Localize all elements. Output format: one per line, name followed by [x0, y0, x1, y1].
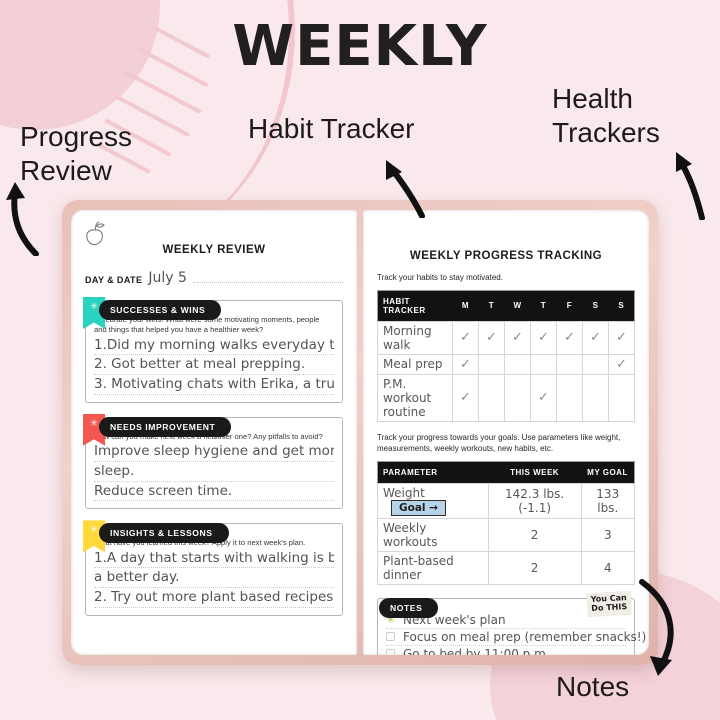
habit-day-header: T: [531, 290, 557, 321]
habit-day-header: M: [453, 290, 479, 321]
check-icon: ✓: [512, 330, 523, 345]
habit-day-header: F: [557, 290, 583, 321]
habit-row[interactable]: Morning walk✓✓✓✓✓✓✓: [378, 321, 635, 354]
habit-row[interactable]: P.M. workout routine✓✓: [378, 374, 635, 421]
habit-check-cell[interactable]: ✓: [453, 374, 479, 421]
habit-check-cell[interactable]: [479, 374, 505, 421]
apple-icon: [83, 220, 109, 248]
habit-day-header: W: [505, 290, 531, 321]
check-icon: ✓: [538, 330, 549, 345]
section-insights-lessons: ✳ INSIGHTS & LESSONS What have you learn…: [85, 523, 343, 616]
parameter-name: Weekly workouts: [378, 518, 489, 551]
habit-check-cell[interactable]: ✓: [453, 354, 479, 374]
handwritten-line[interactable]: 1.Did my morning walks everyday this wee…: [94, 336, 334, 356]
annotation-habit-tracker: Habit Tracker: [248, 112, 415, 146]
param-col-this-week: THIS WEEK: [488, 461, 581, 483]
habit-day-header: T: [479, 290, 505, 321]
handwritten-line[interactable]: Reduce screen time.: [94, 482, 334, 502]
checkbox-icon[interactable]: [386, 632, 395, 641]
habit-tracker-table[interactable]: HABIT TRACKER M T W T F S S Morning walk…: [377, 290, 635, 422]
goal-arrow-sticker: Goal →: [391, 500, 446, 516]
habit-check-cell[interactable]: [583, 374, 609, 421]
page-title: WEEKLY: [0, 14, 720, 79]
you-can-do-this-sticker: You Can Do THIS: [586, 591, 631, 617]
check-icon: ✓: [460, 330, 471, 345]
habit-check-cell[interactable]: ✓: [479, 321, 505, 354]
my-goal-value[interactable]: 4: [581, 551, 634, 584]
check-icon: ✓: [564, 330, 575, 345]
habit-check-cell[interactable]: [583, 354, 609, 374]
handwritten-line[interactable]: 3. Motivating chats with Erika, a true f…: [94, 375, 334, 395]
note-item[interactable]: Go to bed by 11:00 p.m.: [386, 646, 626, 655]
habit-check-cell[interactable]: ✓: [609, 321, 635, 354]
parameter-name: WeightGoal →: [378, 483, 489, 518]
annotation-line: Trackers: [552, 116, 660, 150]
habit-check-cell[interactable]: ✓: [583, 321, 609, 354]
section-title-successes-wins: SUCCESSES & WINS: [99, 300, 221, 320]
handwritten-line[interactable]: sleep.: [94, 462, 334, 482]
section-title-needs-improvement: NEEDS IMPROVEMENT: [99, 417, 231, 437]
habit-table-header: HABIT TRACKER: [378, 290, 453, 321]
param-col-parameter: PARAMETER: [378, 461, 489, 483]
handwritten-line[interactable]: a better day.: [94, 568, 334, 588]
my-goal-value[interactable]: 133 lbs.: [581, 483, 634, 518]
param-col-my-goal: MY GOAL: [581, 461, 634, 483]
check-icon: ✓: [460, 357, 471, 372]
right-page: WEEKLY PROGRESS TRACKING Track your habi…: [363, 210, 649, 655]
this-week-value[interactable]: 2: [488, 518, 581, 551]
habit-check-cell[interactable]: ✓: [557, 321, 583, 354]
habit-table-header-row: HABIT TRACKER M T W T F S S: [378, 290, 635, 321]
section-title-insights-lessons: INSIGHTS & LESSONS: [99, 523, 229, 543]
day-date-rule: [193, 282, 343, 283]
this-week-value[interactable]: 142.3 lbs. (-1.1): [488, 483, 581, 518]
day-date-field[interactable]: DAY & DATE July 5: [85, 270, 343, 286]
annotation-health-trackers: Health Trackers: [552, 82, 660, 150]
right-page-heading: WEEKLY PROGRESS TRACKING: [377, 250, 635, 262]
planner-notebook: WEEKLY REVIEW DAY & DATE July 5 ✳ SUCCES…: [62, 200, 658, 665]
habit-row[interactable]: Meal prep✓✓: [378, 354, 635, 374]
left-page: WEEKLY REVIEW DAY & DATE July 5 ✳ SUCCES…: [71, 210, 357, 655]
checkbox-icon[interactable]: [386, 649, 395, 655]
habit-check-cell[interactable]: [557, 354, 583, 374]
habit-name: Morning walk: [378, 321, 453, 354]
handwritten-line[interactable]: 2. Try out more plant based recipes.: [94, 588, 334, 608]
arrow-up-icon: [378, 148, 430, 218]
my-goal-value[interactable]: 3: [581, 518, 634, 551]
check-icon: ✓: [486, 330, 497, 345]
handwritten-line[interactable]: Improve sleep hygiene and get more hours…: [94, 442, 334, 462]
left-page-heading: WEEKLY REVIEW: [85, 244, 343, 256]
param-table-header-row: PARAMETER THIS WEEK MY GOAL: [378, 461, 635, 483]
check-icon: ✓: [538, 390, 549, 405]
notes-section: NOTES You Can Do THIS ✳Next week's planF…: [377, 598, 635, 655]
day-date-label: DAY & DATE: [85, 275, 142, 286]
parameter-row[interactable]: Plant-based dinner24: [378, 551, 635, 584]
habit-check-cell[interactable]: [505, 374, 531, 421]
habit-day-header: S: [583, 290, 609, 321]
handwritten-line[interactable]: 1.A day that starts with walking is boun…: [94, 549, 334, 569]
check-icon: ✓: [616, 357, 627, 372]
param-intro-text: Track your progress towards your goals. …: [377, 432, 635, 455]
annotation-line: Health: [552, 82, 660, 116]
note-item[interactable]: Focus on meal prep (remember snacks!): [386, 629, 626, 646]
habit-day-header: S: [609, 290, 635, 321]
habit-check-cell[interactable]: ✓: [531, 374, 557, 421]
check-icon: ✓: [460, 390, 471, 405]
habit-check-cell[interactable]: [531, 354, 557, 374]
arrow-down-icon: [628, 578, 688, 688]
handwritten-line[interactable]: 2. Got better at meal prepping.: [94, 355, 334, 375]
habit-check-cell[interactable]: [505, 354, 531, 374]
note-text: Focus on meal prep (remember snacks!): [403, 630, 646, 644]
annotation-line: Progress: [20, 120, 132, 154]
section-needs-improvement: ✳ NEEDS IMPROVEMENT How can you make nex…: [85, 417, 343, 510]
arrow-up-left-icon: [2, 176, 48, 256]
habit-check-cell[interactable]: ✓: [453, 321, 479, 354]
check-icon: ✓: [590, 330, 601, 345]
parameter-row[interactable]: Weekly workouts23: [378, 518, 635, 551]
check-icon: ✓: [616, 330, 627, 345]
notes-title: NOTES: [379, 598, 438, 618]
annotation-notes: Notes: [556, 670, 629, 704]
habit-name: P.M. workout routine: [378, 374, 453, 421]
arrow-up-right-icon: [668, 140, 716, 220]
section-successes-wins: ✳ SUCCESSES & WINS Celebrate your wins! …: [85, 300, 343, 403]
parameter-name: Plant-based dinner: [378, 551, 489, 584]
note-text: Go to bed by 11:00 p.m.: [403, 647, 550, 655]
parameter-row[interactable]: WeightGoal →142.3 lbs. (-1.1)133 lbs.: [378, 483, 635, 518]
sticker-line: Do THIS: [591, 603, 627, 614]
habit-name: Meal prep: [378, 354, 453, 374]
habit-check-cell[interactable]: ✓: [505, 321, 531, 354]
habit-intro-text: Track your habits to stay motivated.: [377, 272, 635, 284]
parameter-table[interactable]: PARAMETER THIS WEEK MY GOAL WeightGoal →…: [377, 461, 635, 585]
habit-check-cell[interactable]: ✓: [531, 321, 557, 354]
habit-check-cell[interactable]: [609, 374, 635, 421]
this-week-value[interactable]: 2: [488, 551, 581, 584]
habit-check-cell[interactable]: ✓: [609, 354, 635, 374]
habit-check-cell[interactable]: [557, 374, 583, 421]
habit-check-cell[interactable]: [479, 354, 505, 374]
day-date-value: July 5: [148, 270, 187, 286]
